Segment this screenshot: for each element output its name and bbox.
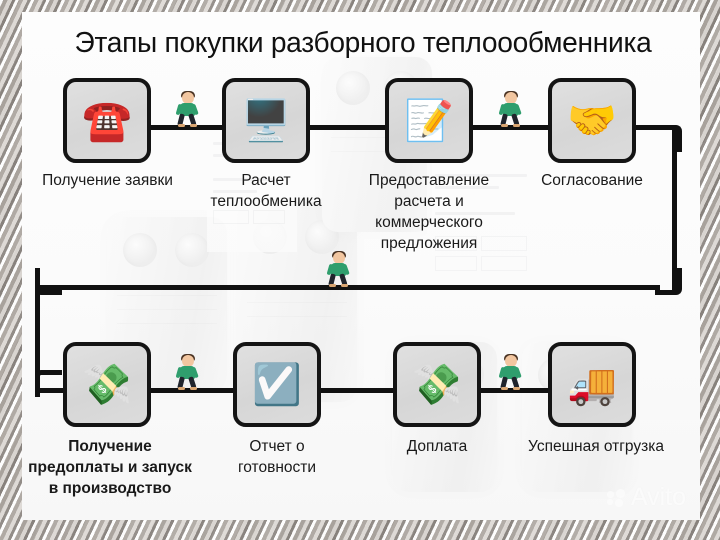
walking-person-icon-1 [177, 92, 199, 126]
money-with-wings-icon: 💸 [412, 365, 462, 405]
step-box-5[interactable]: 💸 [63, 342, 151, 427]
connector-corner-bottom-right [655, 268, 682, 295]
page-title: Этапы покупки разборного теплоообменника [40, 26, 686, 60]
walking-person-icon-2 [500, 92, 522, 126]
step-box-2[interactable]: 🖥️ [222, 78, 310, 163]
connector-right-vertical [672, 130, 677, 290]
walking-person-icon-4 [177, 355, 199, 389]
step-label-2: Расчет теплообменика [191, 170, 341, 212]
connector-6-7 [318, 388, 394, 393]
step-box-6[interactable]: ☑️ [233, 342, 321, 427]
connector-corner-top-right [655, 125, 682, 152]
step-label-3: Предоставление расчета и коммерческого п… [345, 170, 513, 254]
money-with-wings-icon: 💸 [82, 365, 132, 405]
telephone-icon: ☎️ [82, 101, 132, 141]
step-box-1[interactable]: ☎️ [63, 78, 151, 163]
step-box-8[interactable]: 🚚 [548, 342, 636, 427]
desktop-computer-icon: 🖥️ [241, 101, 291, 141]
step-label-1: Получение заявки [22, 170, 200, 191]
connector-2-3 [308, 125, 386, 130]
step-label-6: Отчет о готовности [207, 436, 347, 478]
step-label-5: Получение предоплаты и запуск в производ… [22, 436, 203, 499]
step-box-7[interactable]: 💸 [393, 342, 481, 427]
step-label-4: Согласование [514, 170, 670, 191]
check-box-icon: ☑️ [252, 365, 302, 405]
avito-logo-icon [607, 489, 627, 507]
walking-person-icon-5 [500, 355, 522, 389]
step-label-7: Доплата [374, 436, 500, 457]
step-box-4[interactable]: 🤝 [548, 78, 636, 163]
memo-pencil-icon: 📝 [404, 101, 454, 141]
avito-wordmark: Avito [631, 485, 686, 510]
poster-card: Этапы покупки разборного теплоообменника… [22, 12, 700, 520]
handshake-icon: 🤝 [567, 101, 617, 141]
delivery-truck-icon: 🚚 [567, 365, 617, 405]
poster-canvas: Этапы покупки разборного теплоообменника… [0, 0, 720, 540]
step-box-3[interactable]: 📝 [385, 78, 473, 163]
step-label-8: Успешная отгрузка [498, 436, 694, 457]
connector-mid-horizontal [40, 285, 660, 290]
avito-watermark: Avito [607, 485, 686, 510]
walking-person-icon-3 [328, 252, 350, 286]
